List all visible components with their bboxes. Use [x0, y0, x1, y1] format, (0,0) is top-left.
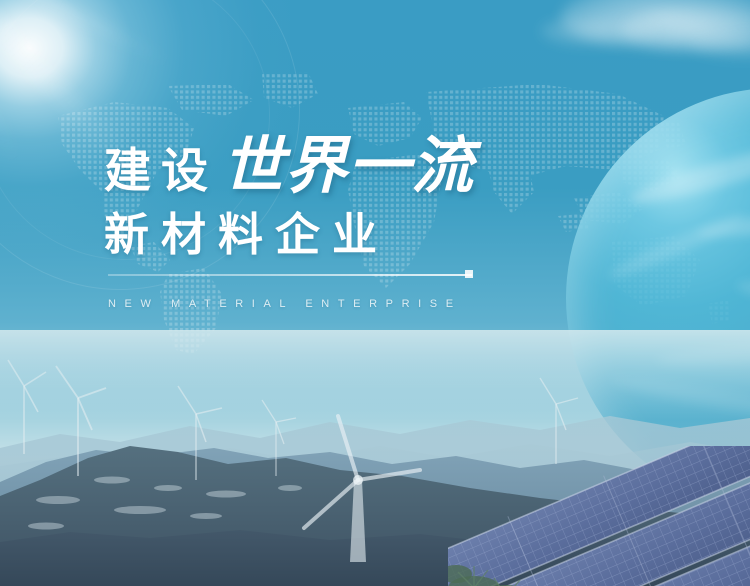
headline-line-1: 建设 世界一流 — [104, 136, 474, 198]
headline-line-2: 新材料企业 — [104, 212, 389, 257]
divider-end-cap — [465, 270, 473, 278]
subtitle-text: NEW MATERIAL ENTERPRISE — [108, 298, 462, 310]
headline-block: 建设 世界一流 新材料企业 NEW MATERIAL ENTERPRISE — [0, 0, 750, 586]
headline-divider — [108, 274, 472, 276]
hero-banner: 建设 世界一流 新材料企业 NEW MATERIAL ENTERPRISE — [0, 0, 750, 586]
headline-plain-text: 建设 — [104, 147, 218, 194]
headline-emphasis-text: 世界一流 — [222, 136, 474, 198]
